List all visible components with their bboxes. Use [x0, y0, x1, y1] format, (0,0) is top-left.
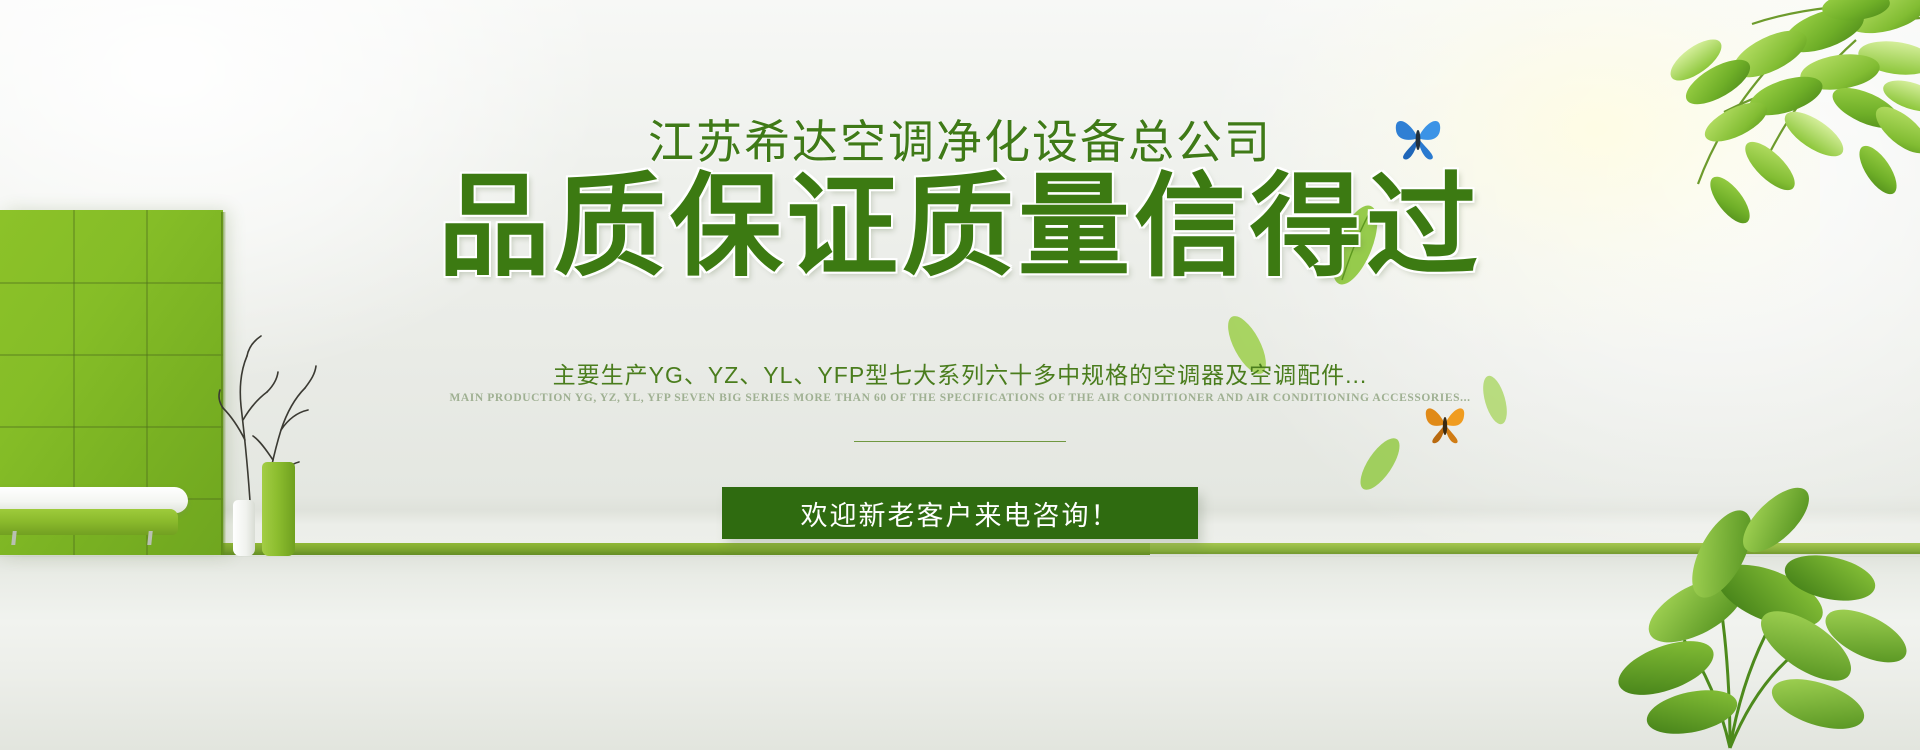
- company-name: 江苏希达空调净化设备总公司: [0, 106, 1920, 172]
- divider: [854, 441, 1066, 442]
- white-green-bench: [0, 487, 188, 545]
- hero-banner: 江苏希达空调净化设备总公司 品质保证质量信得过 主要生产YG、YZ、YL、YFP…: [0, 0, 1920, 750]
- headline: 品质保证质量信得过: [0, 168, 1920, 287]
- orange-butterfly: [1420, 400, 1470, 446]
- subtitle-chinese: 主要生产YG、YZ、YL、YFP型七大系列六十多中规格的空调器及空调配件...: [0, 356, 1920, 390]
- green-vase: [262, 462, 295, 556]
- contact-cta-button[interactable]: 欢迎新老客户来电咨询！: [722, 487, 1198, 539]
- subtitle-english: MAIN PRODUCTION YG, YZ, YL, YFP SEVEN BI…: [0, 392, 1920, 404]
- potted-plant: [1580, 450, 1910, 750]
- white-vase: [233, 500, 255, 556]
- falling-leaf-3: [1352, 430, 1408, 498]
